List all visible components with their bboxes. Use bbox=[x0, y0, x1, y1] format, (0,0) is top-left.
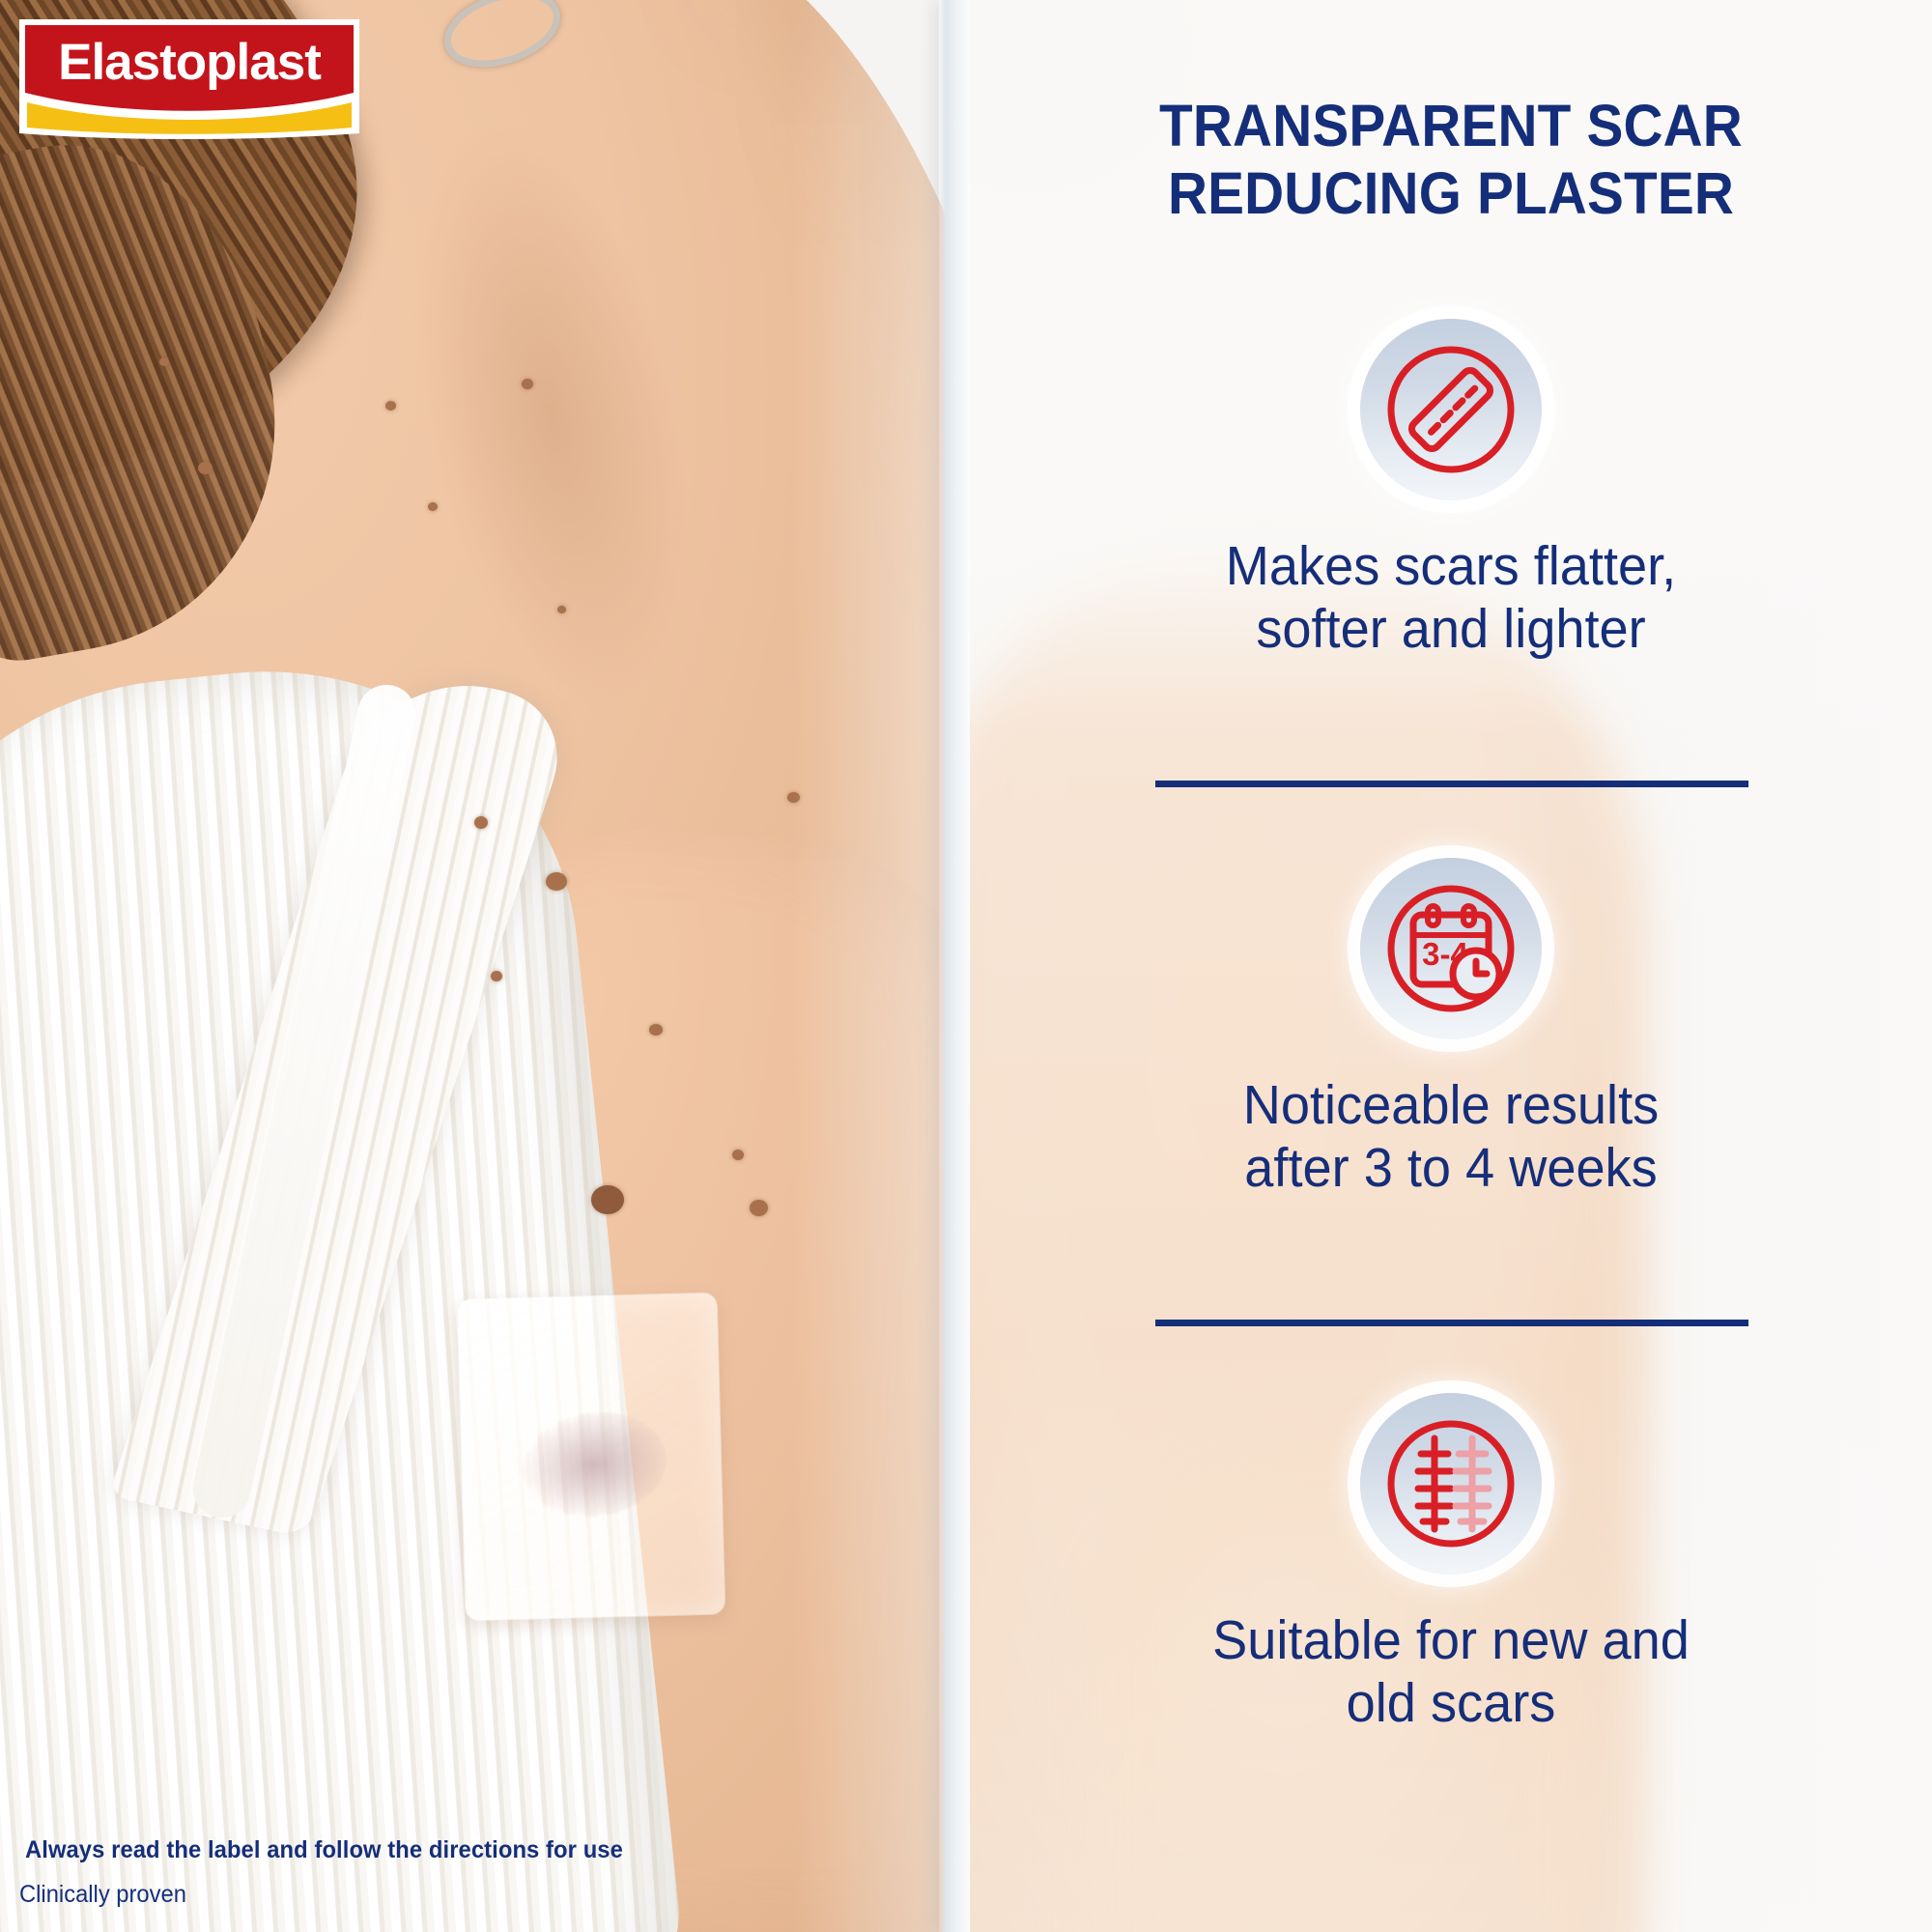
skin-mole bbox=[557, 606, 566, 613]
skin-mole bbox=[649, 1024, 663, 1036]
skin-mole bbox=[474, 816, 488, 829]
skin-mole bbox=[750, 1200, 768, 1216]
feature-3-line-2: old scars bbox=[994, 1672, 1908, 1735]
feature-divider-1 bbox=[1155, 781, 1748, 787]
clinically-proven-note: Clinically proven bbox=[19, 1881, 186, 1909]
feature-1-line-1: Makes scars flatter, bbox=[994, 535, 1908, 598]
skin-mole bbox=[591, 1185, 624, 1214]
logo-svg: Elastoplast bbox=[19, 19, 359, 141]
legal-disclaimer: Always read the label and follow the dir… bbox=[25, 1836, 623, 1864]
headline-line-2: REDUCING PLASTER bbox=[1004, 159, 1898, 227]
feature-item-3: Suitable for new and old scars bbox=[970, 1393, 1932, 1735]
feature-text-3: Suitable for new and old scars bbox=[994, 1609, 1908, 1735]
headline-line-1: TRANSPARENT SCAR bbox=[1004, 92, 1898, 159]
feature-3-line-1: Suitable for new and bbox=[994, 1609, 1908, 1672]
skin-mole bbox=[732, 1150, 744, 1160]
photo-edge-fade bbox=[792, 0, 956, 1932]
skin-mole bbox=[546, 872, 567, 891]
feature-text-1: Makes scars flatter, softer and lighter bbox=[994, 535, 1908, 661]
new-old-scars-icon bbox=[1360, 1393, 1542, 1575]
page-title: TRANSPARENT SCAR REDUCING PLASTER bbox=[1004, 92, 1898, 227]
skin-mole bbox=[428, 502, 438, 511]
skin-mole bbox=[159, 357, 169, 366]
skin-mole bbox=[491, 971, 502, 981]
skin-mole bbox=[198, 462, 213, 474]
feature-item-2: 3-4 Noticeable results after 3 to 4 week… bbox=[970, 858, 1932, 1200]
feature-1-line-2: softer and lighter bbox=[994, 598, 1908, 661]
benefits-panel: TRANSPARENT SCAR REDUCING PLASTER bbox=[970, 0, 1932, 1932]
feature-divider-2 bbox=[1155, 1320, 1748, 1326]
calendar-clock-icon: 3-4 bbox=[1360, 858, 1542, 1039]
feature-2-line-1: Noticeable results bbox=[994, 1074, 1908, 1137]
feature-text-2: Noticeable results after 3 to 4 weeks bbox=[994, 1074, 1908, 1200]
panel-divider bbox=[939, 0, 970, 1932]
feature-2-line-2: after 3 to 4 weeks bbox=[994, 1137, 1908, 1200]
feature-item-1: Makes scars flatter, softer and lighter bbox=[970, 319, 1932, 661]
advert-canvas: Elastoplast TRANSPARENT SCAR REDUCING PL… bbox=[0, 0, 1932, 1932]
plaster-scar-icon bbox=[1360, 319, 1542, 500]
logo-wordmark: Elastoplast bbox=[58, 34, 321, 91]
skin-mole bbox=[522, 379, 533, 389]
product-photo bbox=[0, 0, 956, 1932]
elastoplast-logo: Elastoplast bbox=[19, 19, 359, 141]
skin-mole bbox=[385, 401, 396, 411]
transparent-scar-plaster bbox=[458, 1293, 725, 1621]
